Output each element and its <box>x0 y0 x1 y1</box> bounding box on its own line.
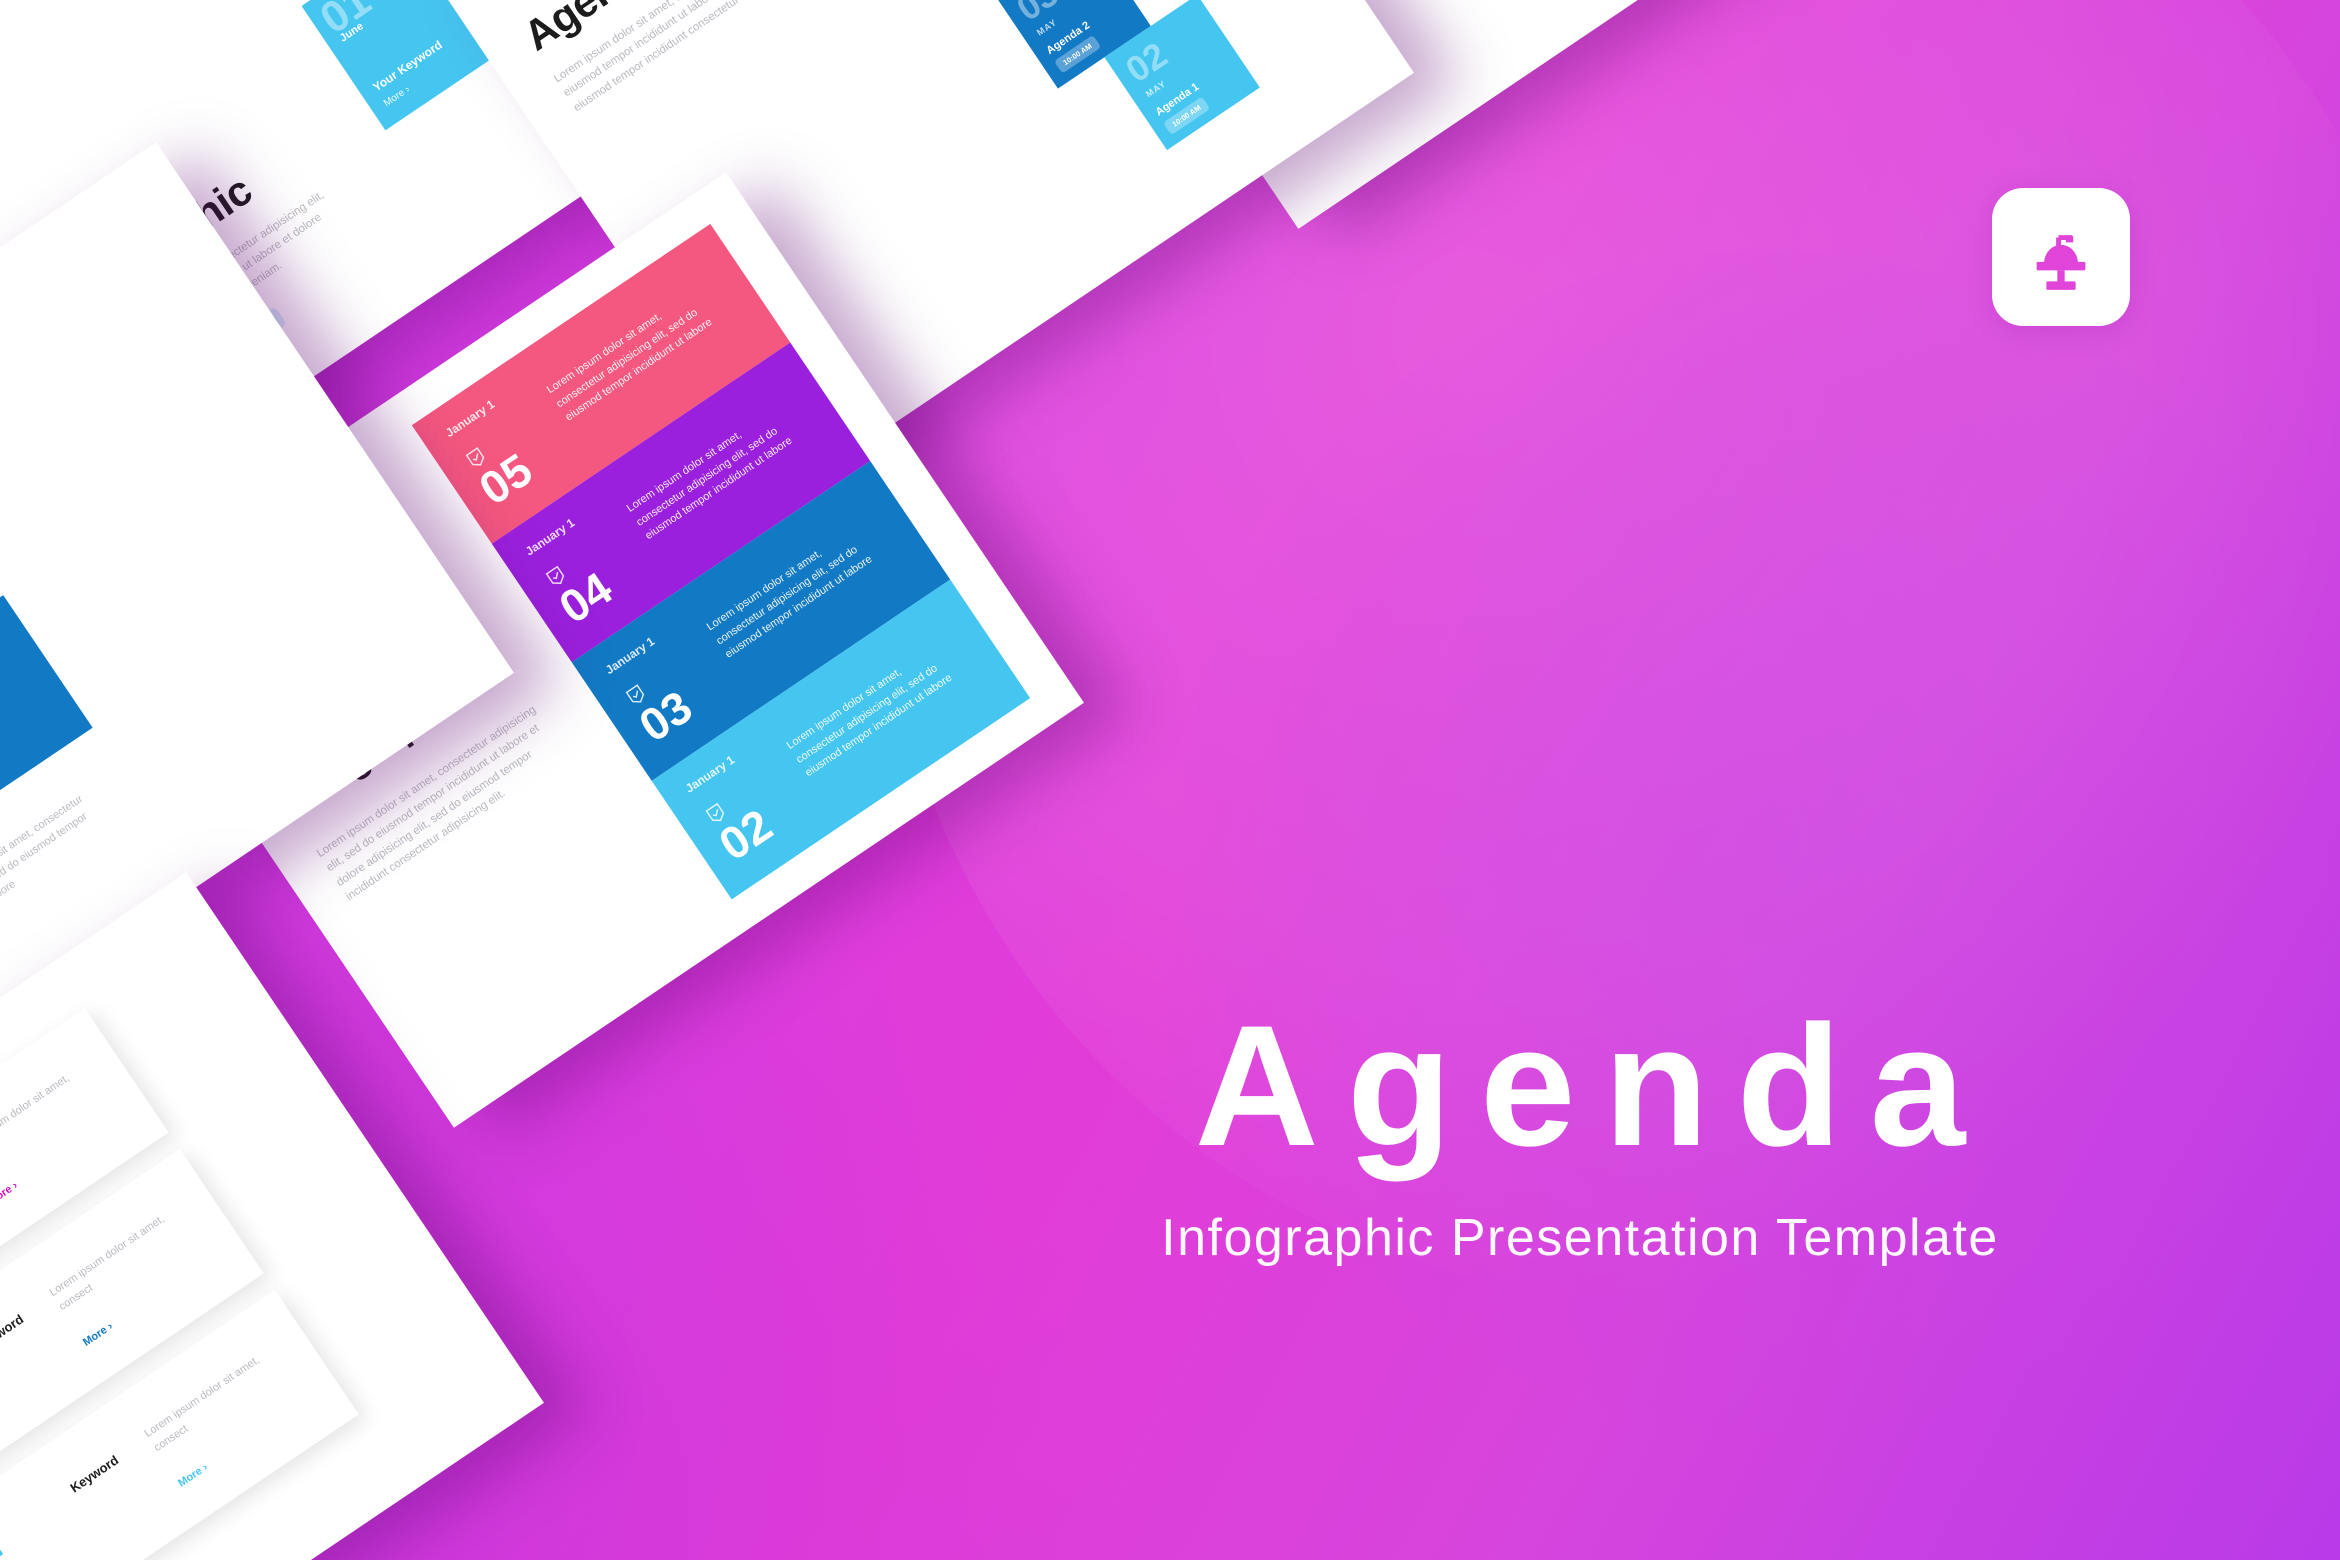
slide-mockup-deck: 02 June Your Keyword More › 01 June Your… <box>0 0 2340 1560</box>
month-text: Lorem ipsum dolor sit amet, consect <box>0 1068 86 1174</box>
month-more-link[interactable]: More › <box>0 1179 20 1207</box>
month-text: Lorem ipsum dolor sit amet, consect <box>141 1350 276 1456</box>
tile-number: 02 <box>1120 36 1173 88</box>
bar-month: January 1 <box>603 634 657 677</box>
page-subtitle: Infographic Presentation Template <box>880 1208 2280 1268</box>
month-keyword: Keyword <box>0 1311 26 1354</box>
bar-month: January 1 <box>443 397 497 440</box>
staircase-tiles: 06 MAY Agenda 5 10:00 AM 05 MAY Agenda 4… <box>824 0 1346 198</box>
month-more-link[interactable]: More › <box>176 1461 210 1489</box>
month-card-list: 2023 Sep Keyword Lorem ipsum dolor sit a… <box>0 963 453 1560</box>
row-text: Lorem ipsum dolor sit amet, consectetur … <box>0 789 109 942</box>
month-text: Lorem ipsum dolor sit amet, consect <box>46 1209 181 1315</box>
hero-text-block: Agenda Infographic Presentation Template <box>880 1000 2280 1268</box>
month-keyword: Keyword <box>67 1452 121 1495</box>
keynote-app-badge[interactable] <box>1992 188 2130 326</box>
bar-month: January 1 <box>523 516 577 559</box>
keynote-podium-icon <box>2022 218 2100 296</box>
page-title: Agenda <box>880 1000 2280 1172</box>
month-more-link[interactable]: More › <box>81 1320 115 1348</box>
bar-month: January 1 <box>683 753 737 796</box>
month-name: Jul <box>0 1525 9 1560</box>
